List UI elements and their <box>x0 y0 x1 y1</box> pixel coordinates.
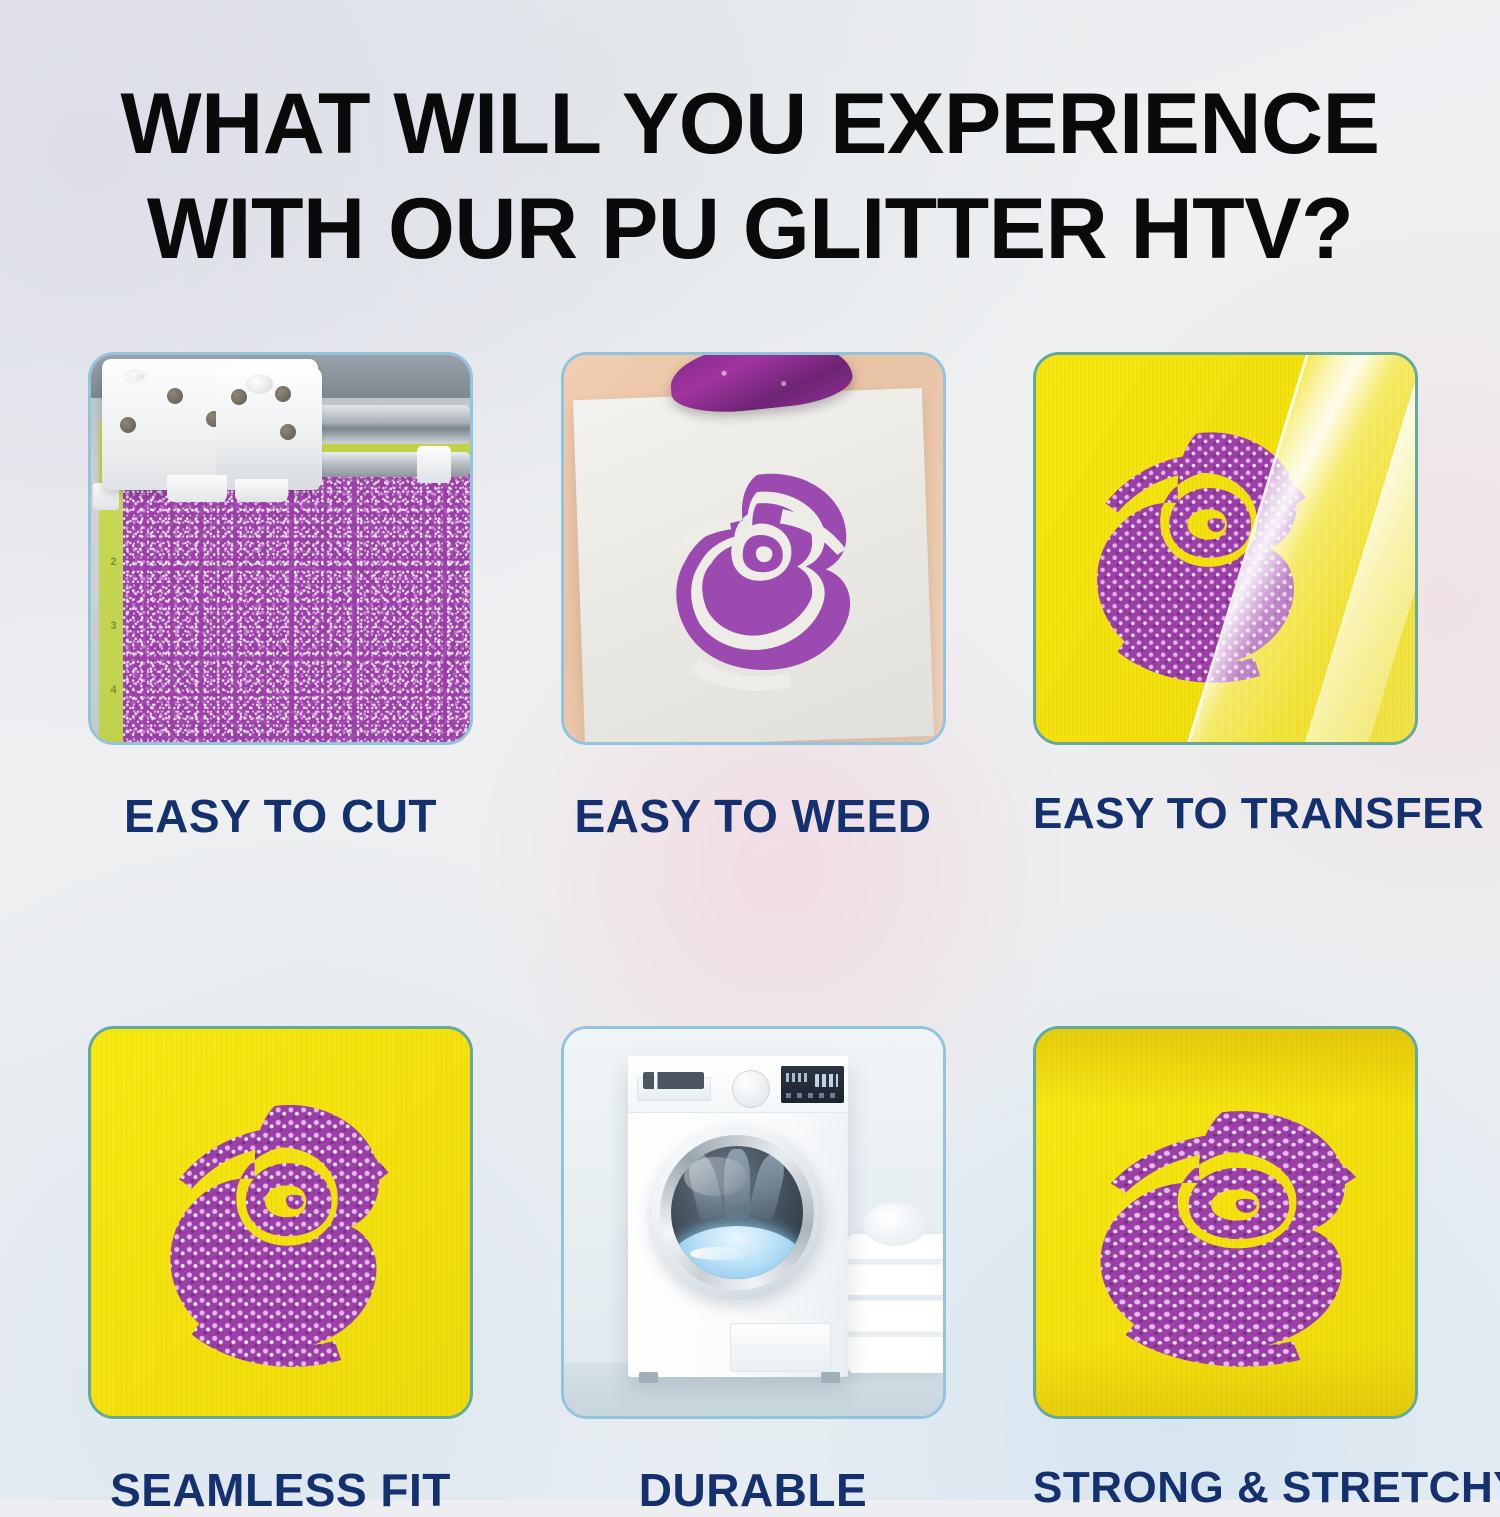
display-option-row <box>786 1093 836 1097</box>
machine-leg-right <box>821 1372 840 1384</box>
feature-image-easy-to-weed <box>561 352 946 745</box>
feature-card-easy-to-transfer: EASY TO TRANSFER <box>1033 352 1418 843</box>
carriage-foot-right <box>235 479 288 502</box>
feature-row-bottom: SEAMLESS FIT <box>88 1026 1418 1517</box>
feature-caption-strong-stretchy: STRONG & STRETCHY <box>1033 1463 1418 1513</box>
ruler-mark-4: 4 <box>103 684 125 696</box>
ruler-mark-3: 3 <box>103 620 125 632</box>
blade-housing <box>246 374 274 394</box>
ruler-mark-2: 2 <box>103 556 125 568</box>
feature-caption-easy-to-weed: EASY TO WEED <box>561 789 946 843</box>
glitter-rose-stretched <box>1044 1075 1415 1385</box>
feature-image-seamless-fit <box>88 1026 473 1419</box>
carriage-screw <box>167 388 183 404</box>
carriage-knob <box>124 369 148 383</box>
feature-caption-easy-to-cut: EASY TO CUT <box>88 789 473 843</box>
feature-card-seamless-fit: SEAMLESS FIT <box>88 1026 473 1517</box>
feature-card-easy-to-cut: 1 2 3 4 <box>88 352 473 843</box>
feature-caption-seamless-fit: SEAMLESS FIT <box>88 1463 473 1517</box>
glitter-swirl-texture <box>123 463 470 742</box>
headline-line-2: WITH OUR PU GLITTER HTV? <box>60 177 1440 282</box>
carriage-screw <box>231 389 247 405</box>
filter-hatch <box>730 1323 831 1371</box>
feature-caption-durable: DURABLE <box>561 1463 946 1517</box>
carriage-screw <box>120 417 136 433</box>
feature-card-strong-stretchy: STRONG & STRETCHY <box>1033 1026 1418 1517</box>
feature-card-easy-to-weed: EASY TO WEED <box>561 352 946 843</box>
weeded-rose-design <box>613 429 901 715</box>
glitter-rose-seamless <box>114 1068 448 1385</box>
purple-glitter-sheet <box>123 463 470 742</box>
digital-display-panel <box>781 1066 844 1103</box>
carriage-foot-left <box>167 475 228 502</box>
feature-image-easy-to-transfer <box>1033 352 1418 745</box>
rail-collar <box>417 446 451 483</box>
drum-fin <box>748 1152 789 1220</box>
machine-leg-left <box>639 1372 658 1384</box>
brand-logo <box>643 1072 704 1088</box>
display-time-readout <box>815 1074 838 1086</box>
feature-image-durable <box>561 1026 946 1419</box>
feature-image-strong-stretchy <box>1033 1026 1418 1419</box>
feature-card-durable: DURABLE <box>561 1026 946 1517</box>
carriage-screw <box>280 424 296 440</box>
feature-image-easy-to-cut: 1 2 3 4 <box>88 352 473 745</box>
folded-towels <box>848 1234 943 1373</box>
rolled-towel <box>863 1203 927 1246</box>
carriage-screw <box>275 386 291 402</box>
program-dial <box>732 1070 770 1108</box>
feature-grid: 1 2 3 4 <box>88 352 1418 1517</box>
cutter-carriage-right <box>216 367 322 491</box>
feature-caption-easy-to-transfer: EASY TO TRANSFER <box>1033 789 1418 839</box>
display-program-icons <box>786 1073 807 1081</box>
feature-row-top: 1 2 3 4 <box>88 352 1418 843</box>
door-glass <box>671 1146 803 1279</box>
infographic-page: WHAT WILL YOU EXPERIENCE WITH OUR PU GLI… <box>0 0 1500 1500</box>
page-title: WHAT WILL YOU EXPERIENCE WITH OUR PU GLI… <box>0 72 1500 282</box>
headline-line-1: WHAT WILL YOU EXPERIENCE <box>121 76 1380 172</box>
machine-rail-bar <box>303 405 470 444</box>
